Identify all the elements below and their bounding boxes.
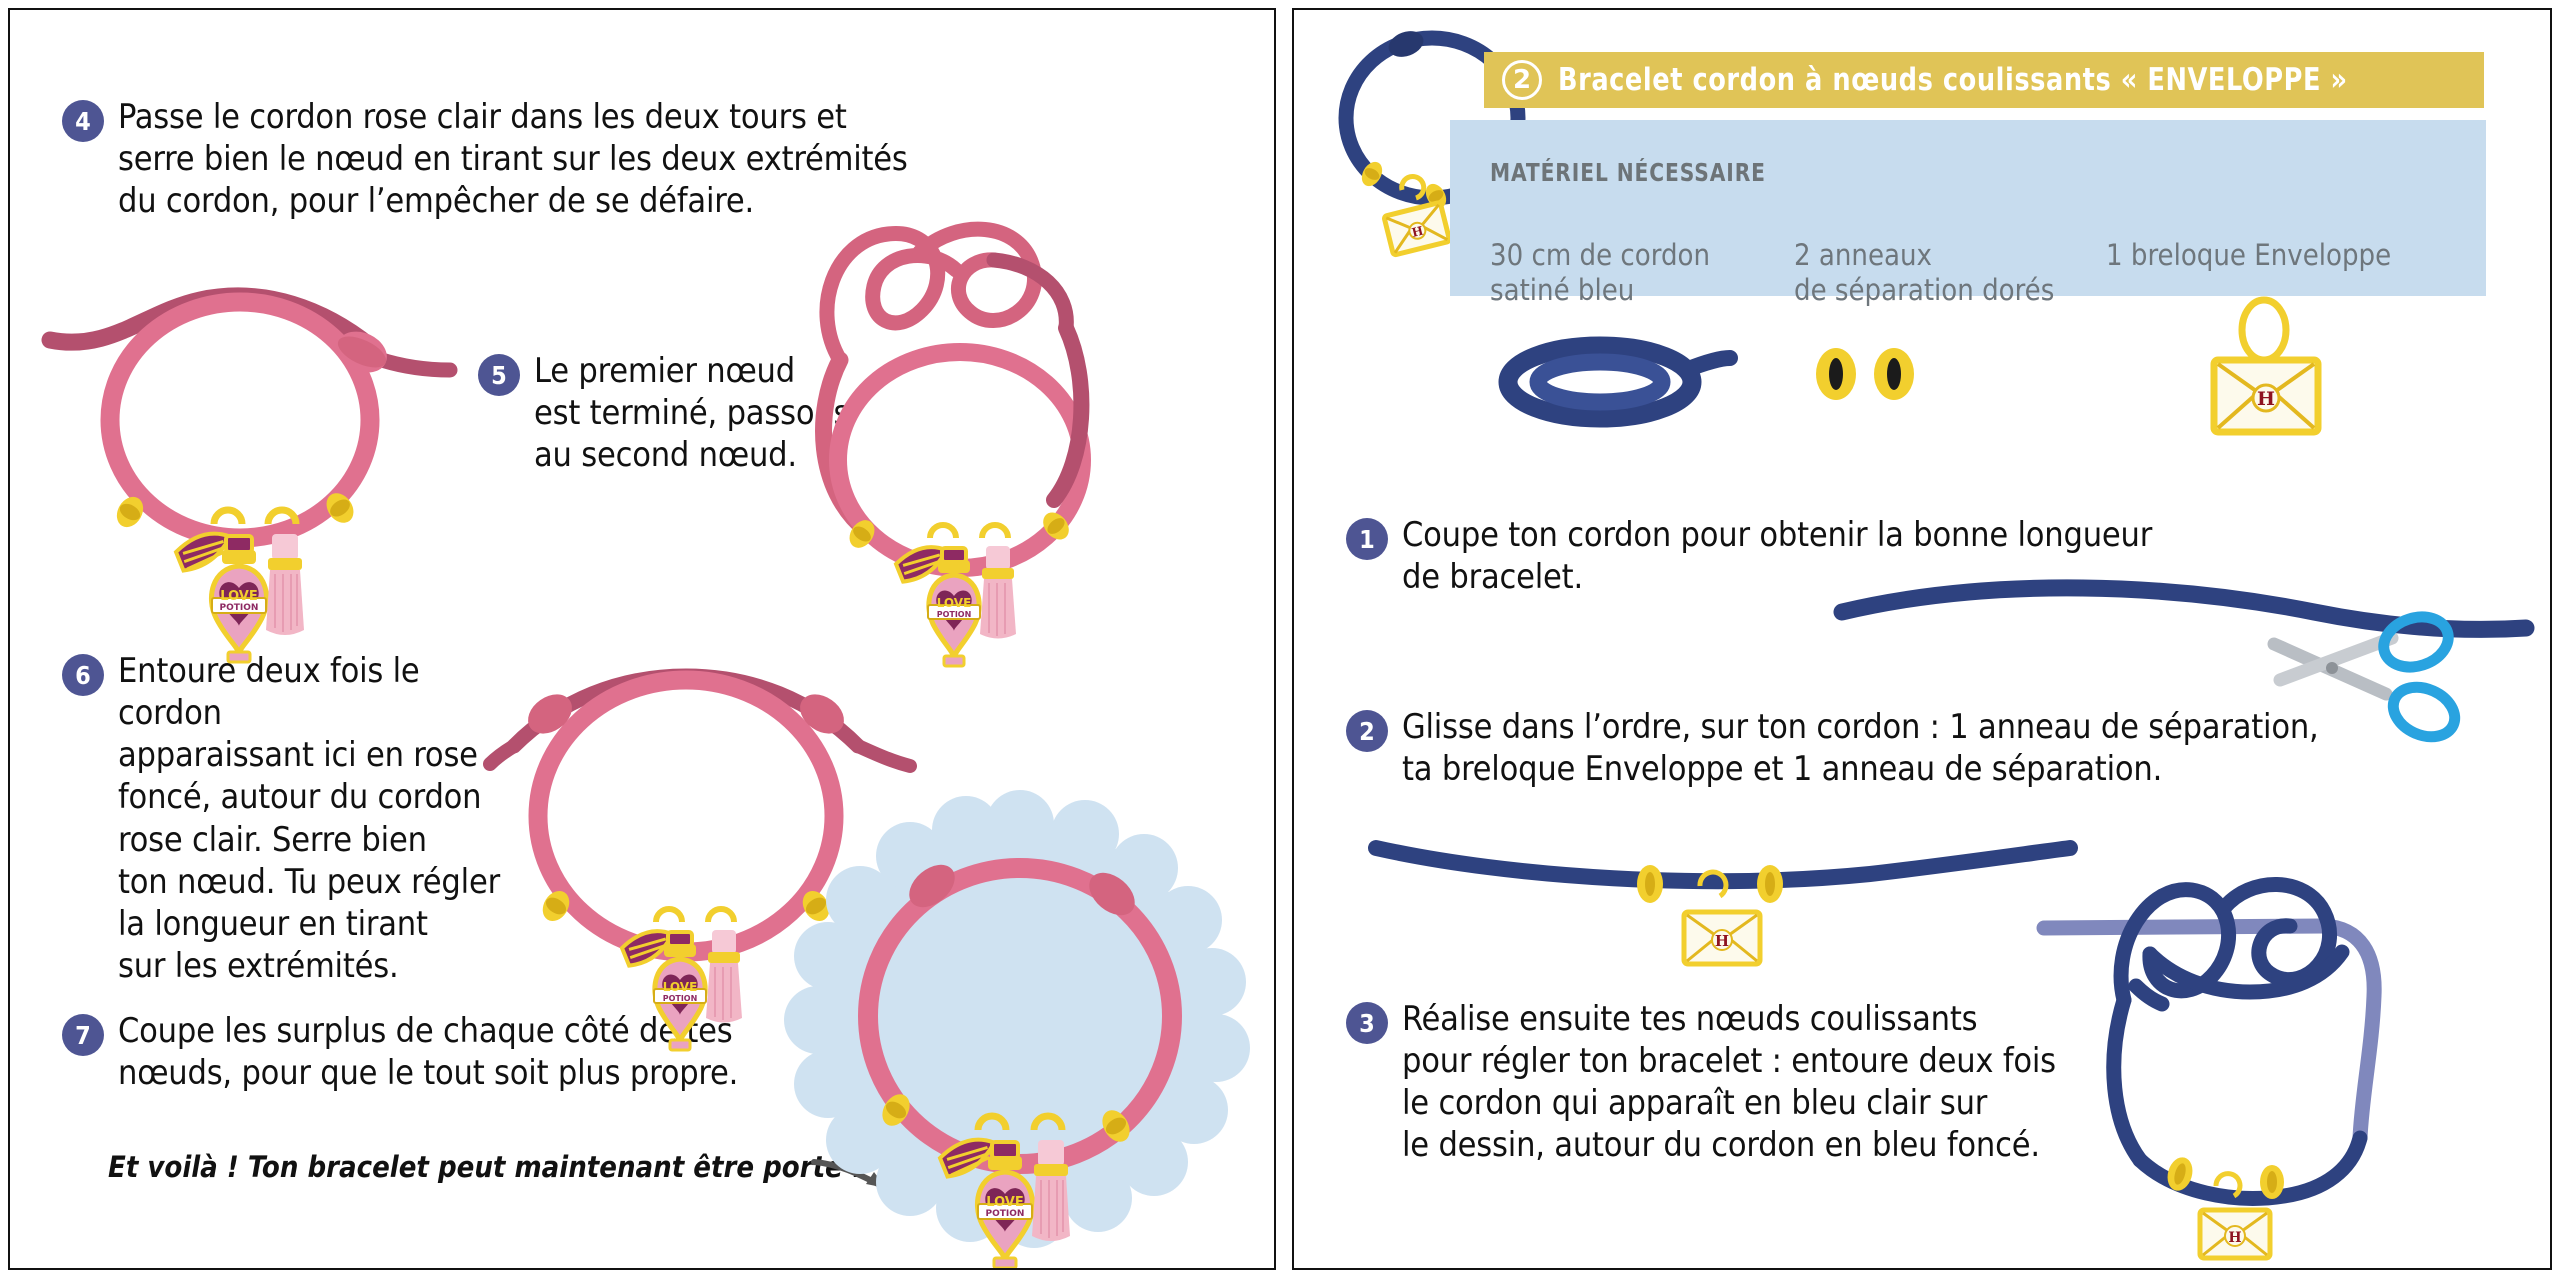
left-page-panel: 4 Passe le cordon rose clair dans les de…: [8, 8, 1276, 1270]
coiled-blue-cord-icon: [1490, 324, 1730, 434]
right-step-3: 3 Réalise ensuite tes nœuds coulissants …: [1346, 998, 2106, 1167]
material-label-cord: 30 cm de cordon satiné bleu: [1490, 238, 1710, 309]
right-step-1-number: 1: [1346, 518, 1388, 560]
envelope-seal-letter: H: [2228, 1230, 2241, 1246]
gold-ring: [1757, 865, 1783, 903]
materials-heading: MATÉRIEL NÉCESSAIRE: [1490, 158, 1766, 187]
material-label-rings: 2 anneaux de séparation dorés: [1794, 238, 2054, 309]
right-step-2: 2 Glisse dans l’ordre, sur ton cordon : …: [1346, 706, 2466, 790]
figure-cord-with-rings: H: [1370, 822, 2110, 1002]
figure-pink-knot-loops: LOVE POTION: [770, 160, 1240, 620]
charm-label-love: LOVE: [663, 980, 698, 994]
right-page-panel: H 2 Bracelet cordon à nœuds coulissants …: [1292, 8, 2552, 1270]
right-step-2-number: 2: [1346, 710, 1388, 752]
charm-label-love: LOVE: [937, 596, 972, 610]
figure-finished-bracelet: LOVE POTION: [780, 790, 1260, 1260]
step-6-text: Entoure deux fois le cordon apparaissant…: [118, 650, 532, 987]
charm-label-potion: POTION: [663, 994, 698, 1003]
tassel-icon: [266, 534, 304, 635]
step-6: 6 Entoure deux fois le cordon apparaissa…: [62, 650, 532, 987]
gold-ring: [1637, 865, 1663, 903]
section-number: 2: [1502, 60, 1542, 100]
gold-ring: [2260, 1165, 2284, 1199]
step-6-number: 6: [62, 654, 104, 696]
section-title: Bracelet cordon à nœuds coulissants « EN…: [1558, 62, 2348, 98]
envelope-charm-materials-icon: H: [2198, 298, 2338, 468]
step-4-number: 4: [62, 100, 104, 142]
charm-label-love: LOVE: [220, 589, 257, 604]
figure-blue-sliding-knot: H: [2024, 870, 2544, 1270]
envelope-charm-icon: H: [2200, 1174, 2270, 1258]
envelope-seal-letter: H: [2257, 388, 2275, 410]
step-7-number: 7: [62, 1014, 104, 1056]
figure-pink-bracelet-knot1: LOVE POTION: [40, 260, 510, 660]
material-label-charm: 1 breloque Enveloppe: [2106, 238, 2391, 273]
right-step-2-text: Glisse dans l’ordre, sur ton cordon : 1 …: [1402, 706, 2319, 790]
charm-label-potion: POTION: [220, 603, 259, 613]
gold-rings-icon: [1810, 340, 1930, 410]
right-step-3-number: 3: [1346, 1002, 1388, 1044]
envelope-seal-letter: H: [1715, 932, 1729, 950]
section-banner: 2 Bracelet cordon à nœuds coulissants « …: [1484, 52, 2484, 108]
instruction-spread: 4 Passe le cordon rose clair dans les de…: [0, 0, 2560, 1280]
charm-group: LOVE POTION: [620, 909, 742, 1050]
charm-label-potion: POTION: [937, 610, 972, 619]
charm-label-potion: POTION: [986, 1209, 1025, 1219]
closing-note: Et voilà ! Ton bracelet peut maintenant …: [108, 1150, 864, 1184]
charm-label-love: LOVE: [986, 1195, 1023, 1210]
right-step-3-text: Réalise ensuite tes nœuds coulissants po…: [1402, 998, 2056, 1167]
